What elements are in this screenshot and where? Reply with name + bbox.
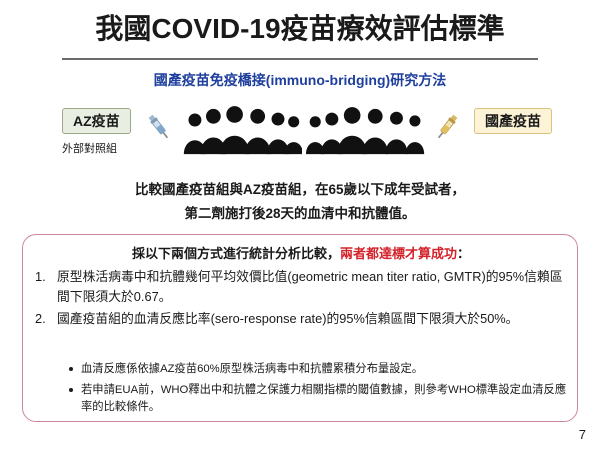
summary-line-1: 比較國產疫苗組與AZ疫苗組，在65歲以下成年受試者， bbox=[0, 178, 600, 202]
sub-list-item: 血清反應係依據AZ疫苗60%原型株活病毒中和抗體累積分布量設定。 bbox=[69, 361, 569, 379]
external-control-note: 外部對照組 bbox=[62, 140, 117, 156]
criteria-sub-list: 血清反應係依據AZ疫苗60%原型株活病毒中和抗體累積分布量設定。 若申請EUA前… bbox=[69, 361, 569, 420]
az-vaccine-tag: AZ疫苗 bbox=[62, 108, 131, 134]
list-item: 1. 原型株活病毒中和抗體幾何平均效價比值(geometric mean tit… bbox=[35, 267, 571, 307]
comparison-graphic: AZ疫苗 外部對照組 bbox=[0, 100, 600, 162]
criteria-heading-plain: 採以下兩個方式進行統計分析比較， bbox=[132, 246, 340, 261]
criteria-list: 1. 原型株活病毒中和抗體幾何平均效價比值(geometric mean tit… bbox=[35, 267, 571, 332]
criteria-heading-highlight: 兩者都達標才算成功 bbox=[340, 246, 457, 261]
slide: 我國COVID-19疫苗療效評估標準 國產疫苗免疫橋接(immuno-bridg… bbox=[0, 0, 600, 450]
page-number: 7 bbox=[579, 427, 586, 442]
list-item-text: 原型株活病毒中和抗體幾何平均效價比值(geometric mean titer … bbox=[57, 267, 571, 307]
page-title-wrap: 我國COVID-19疫苗療效評估標準 bbox=[0, 14, 600, 45]
criteria-heading-tail: ： bbox=[457, 246, 470, 261]
criteria-heading: 採以下兩個方式進行統計分析比較，兩者都達標才算成功： bbox=[23, 243, 579, 262]
domestic-vaccine-tag: 國產疫苗 bbox=[474, 108, 552, 134]
list-item-number: 2. bbox=[35, 309, 53, 329]
sub-list-item-text: 血清反應係依據AZ疫苗60%原型株活病毒中和抗體累積分布量設定。 bbox=[81, 363, 423, 375]
list-item-number: 1. bbox=[35, 267, 53, 287]
subtitle: 國產疫苗免疫橋接(immuno-bridging)研究方法 bbox=[0, 70, 600, 90]
sub-list-item-text: 若申請EUA前，WHO釋出中和抗體之保護力相關指標的閾值數據，則參考WHO標準設… bbox=[81, 384, 566, 414]
list-item: 2. 國產疫苗組的血清反應比率(sero-response rate)的95%信… bbox=[35, 309, 571, 329]
bullet-dot-icon bbox=[69, 388, 73, 392]
summary-line-2: 第二劑施打後28天的血清中和抗體值。 bbox=[0, 202, 600, 226]
sub-list-item: 若申請EUA前，WHO釋出中和抗體之保護力相關指標的閾值數據，則參考WHO標準設… bbox=[69, 382, 569, 417]
people-group-icon bbox=[306, 106, 426, 158]
list-item-text: 國產疫苗組的血清反應比率(sero-response rate)的95%信賴區間… bbox=[57, 309, 571, 329]
summary-paragraph: 比較國產疫苗組與AZ疫苗組，在65歲以下成年受試者， 第二劑施打後28天的血清中… bbox=[0, 178, 600, 225]
bullet-dot-icon bbox=[69, 367, 73, 371]
syringe-icon bbox=[142, 110, 176, 144]
criteria-box: 採以下兩個方式進行統計分析比較，兩者都達標才算成功： 1. 原型株活病毒中和抗體… bbox=[22, 234, 578, 422]
page-title: 我國COVID-19疫苗療效評估標準 bbox=[0, 14, 600, 45]
syringe-icon bbox=[430, 110, 464, 144]
title-divider bbox=[62, 58, 538, 60]
people-group-icon bbox=[182, 106, 302, 158]
